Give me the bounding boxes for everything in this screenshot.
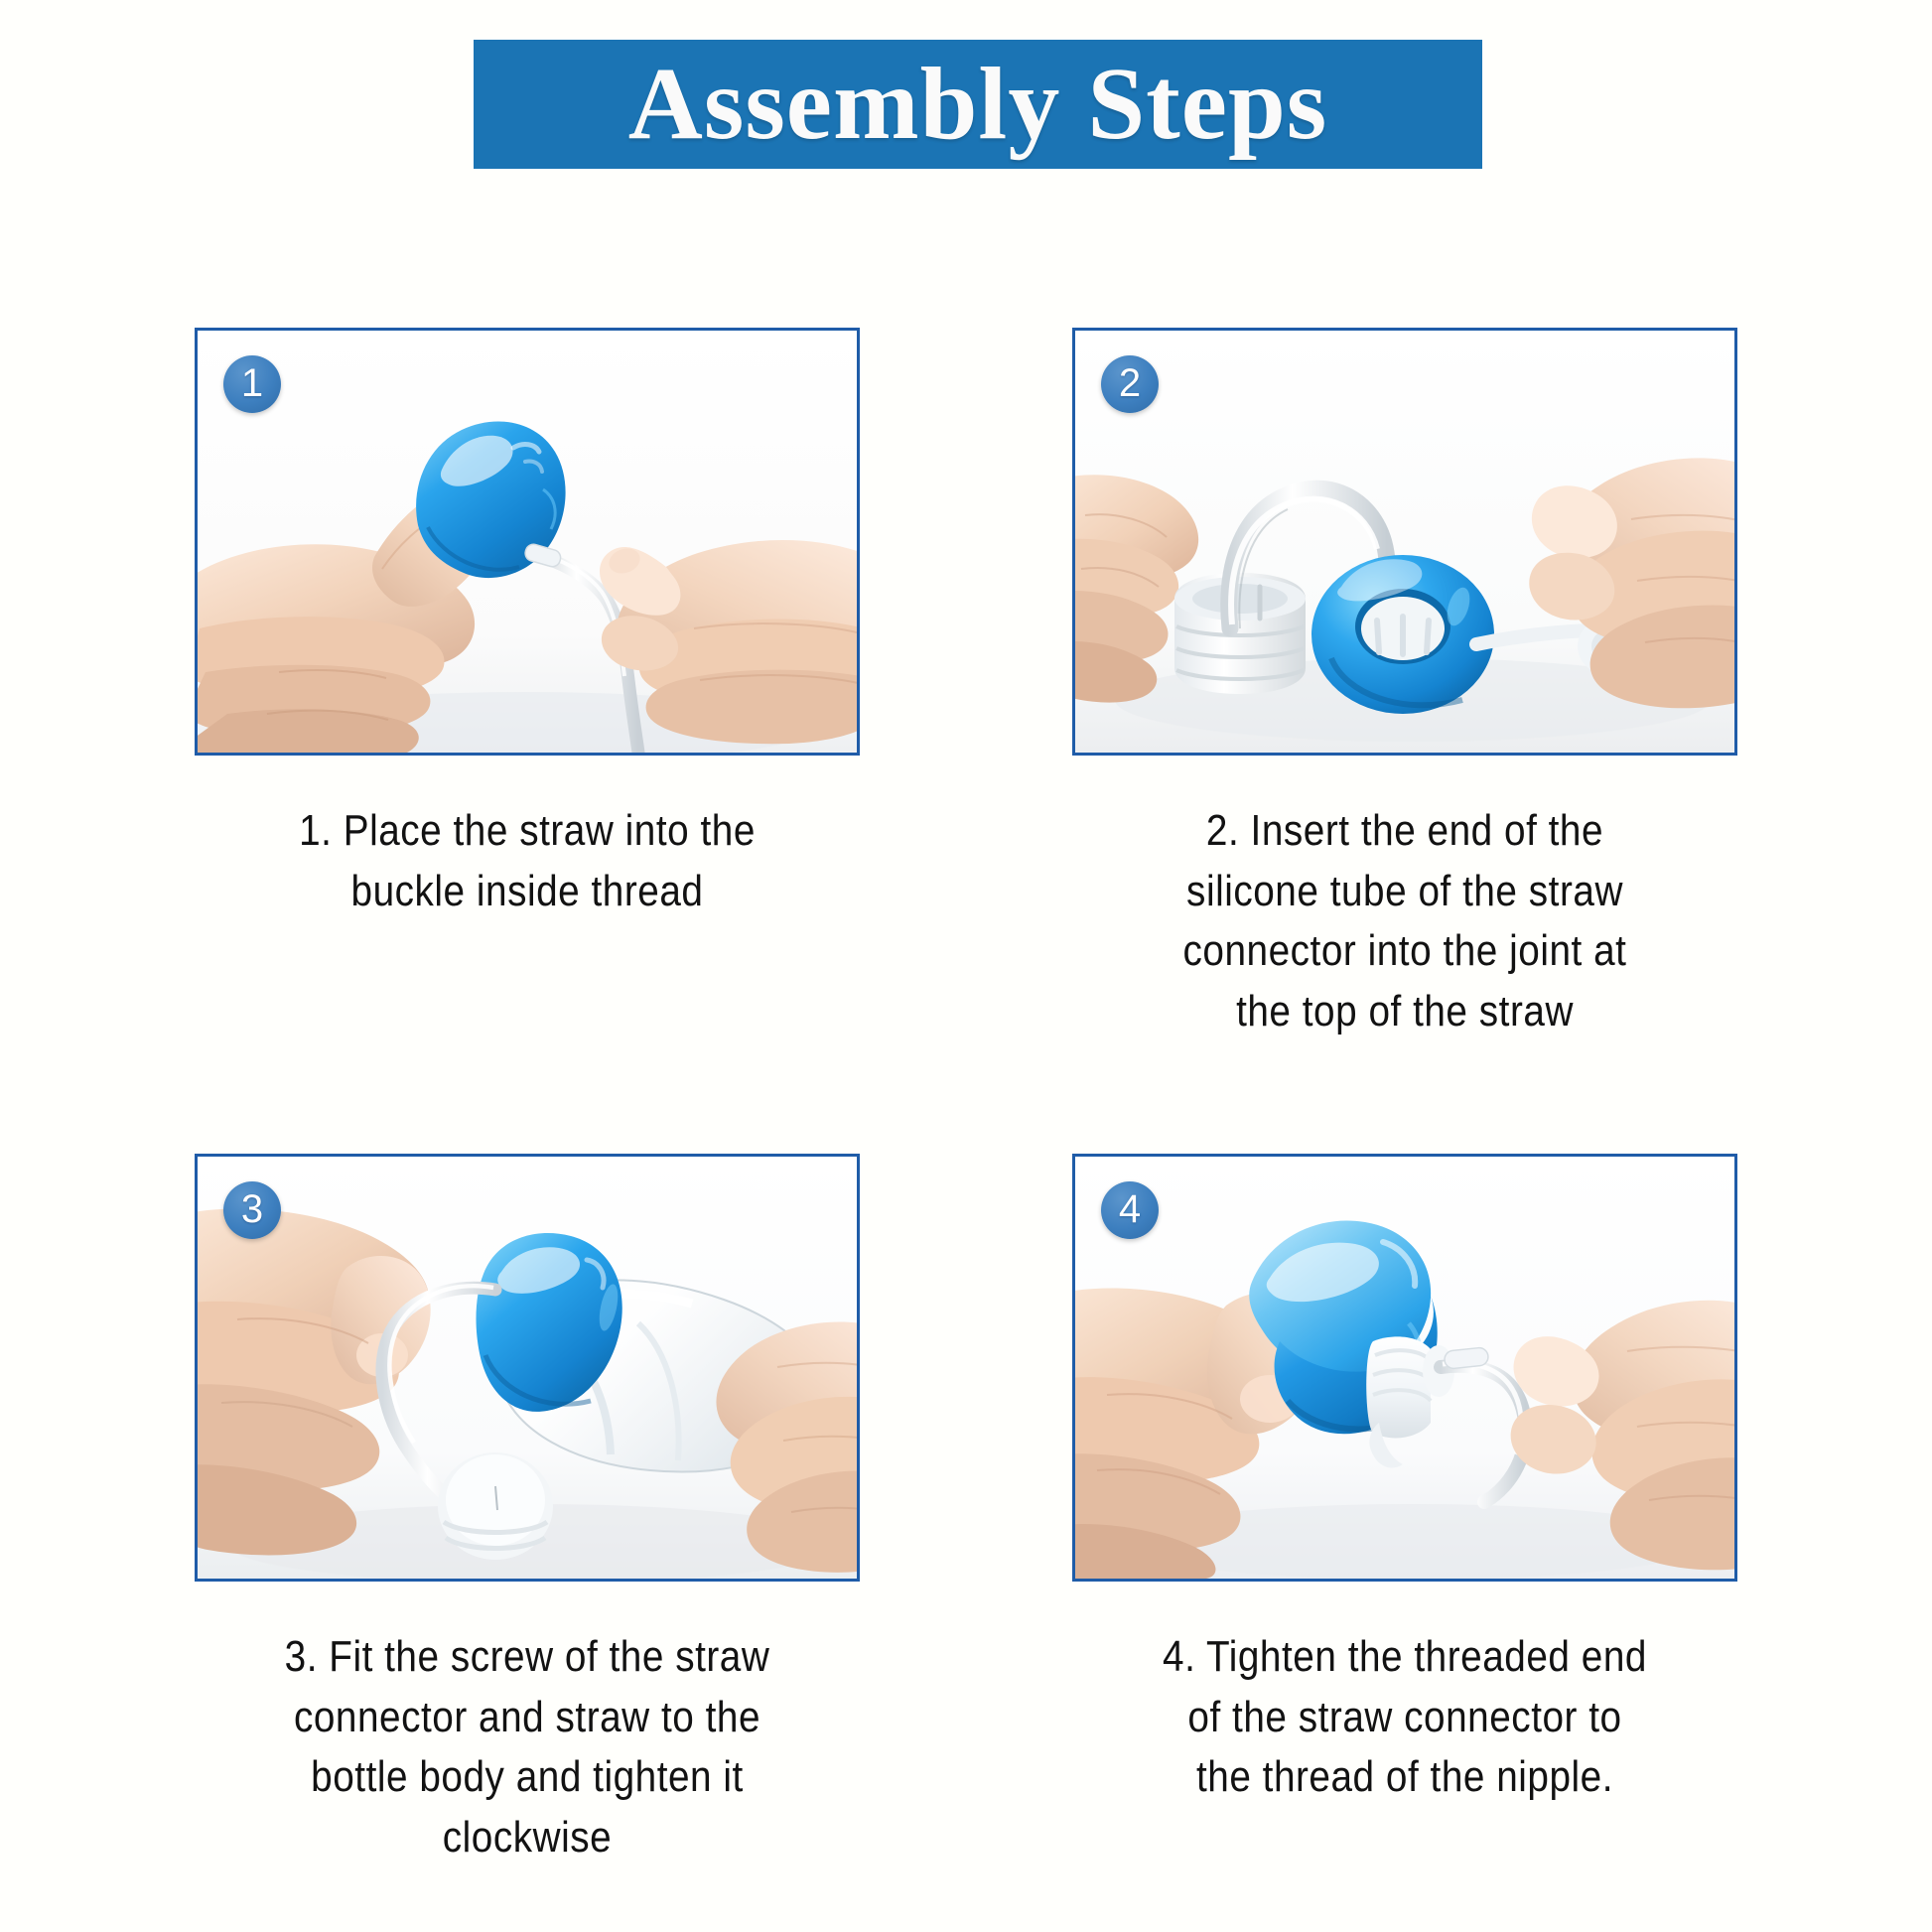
step-item-1: 1 1. Place the straw into the buckle ins… (195, 328, 860, 1042)
step-item-4: 4 4. Tighten the threaded end of the str… (1072, 1154, 1737, 1868)
step-badge-label: 2 (1119, 363, 1141, 403)
steps-row-top: 1 1. Place the straw into the buckle ins… (0, 328, 1932, 1042)
step-caption-4: 4. Tighten the threaded end of the straw… (1112, 1627, 1698, 1808)
title-banner-wrap: Assembly Steps (0, 40, 1932, 169)
step-caption-1: 1. Place the straw into the buckle insid… (234, 801, 820, 921)
step-3-illustration (198, 1157, 857, 1579)
page-title: Assembly Steps (628, 53, 1328, 156)
white-cap-disc (438, 1452, 553, 1560)
step-badge-2: 2 (1101, 355, 1159, 413)
step-badge-1: 1 (223, 355, 281, 413)
step-badge-label: 4 (1119, 1189, 1141, 1229)
title-banner: Assembly Steps (474, 40, 1482, 169)
step-badge-label: 3 (241, 1189, 263, 1229)
step-photo-4: 4 (1072, 1154, 1737, 1582)
step-item-3: 3 3. Fit the screw of the straw connecto… (195, 1154, 860, 1868)
step-4-illustration (1075, 1157, 1734, 1579)
assembly-steps-grid: 1 1. Place the straw into the buckle ins… (0, 328, 1932, 1868)
step-caption-3: 3. Fit the screw of the straw connector … (234, 1627, 820, 1868)
step-photo-1: 1 (195, 328, 860, 756)
blue-ring-connector (1311, 555, 1494, 714)
step-2-illustration (1075, 331, 1734, 753)
step-caption-2: 2. Insert the end of the silicone tube o… (1112, 801, 1698, 1042)
step-badge-4: 4 (1101, 1181, 1159, 1239)
steps-row-bottom: 3 3. Fit the screw of the straw connecto… (0, 1154, 1932, 1868)
step-item-2: 2 2. Insert the end of the silicone tube… (1072, 328, 1737, 1042)
step-photo-2: 2 (1072, 328, 1737, 756)
step-photo-3: 3 (195, 1154, 860, 1582)
step-badge-label: 1 (241, 363, 263, 403)
step-1-illustration (198, 331, 857, 753)
step-badge-3: 3 (223, 1181, 281, 1239)
